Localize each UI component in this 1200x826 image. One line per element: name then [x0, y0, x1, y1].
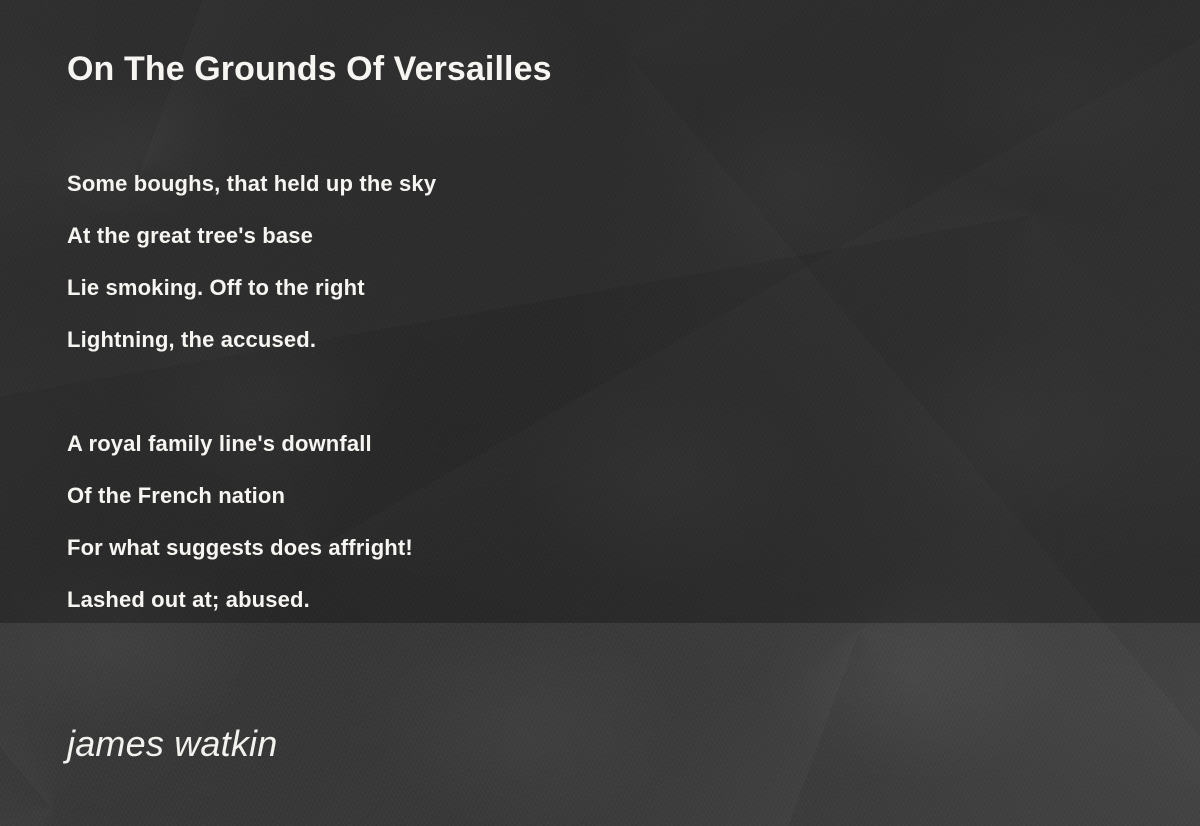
poem-author: james watkin: [67, 723, 277, 765]
poem-title: On The Grounds Of Versailles: [67, 50, 552, 89]
poem-stanza: Some boughs, that held up the sky At the…: [67, 158, 827, 366]
poem-line: Lightning, the accused.: [67, 314, 827, 366]
poem-line: At the great tree's base: [67, 210, 827, 262]
poem-line: Lashed out at; abused.: [67, 574, 827, 626]
poem-line: Lie smoking. Off to the right: [67, 262, 827, 314]
poem-card: On The Grounds Of Versailles Some boughs…: [0, 0, 1200, 826]
poem-line: For what suggests does affright!: [67, 522, 827, 574]
poem-line: Of the French nation: [67, 470, 827, 522]
poem-body: Some boughs, that held up the sky At the…: [67, 158, 827, 626]
poem-line: A royal family line's downfall: [67, 418, 827, 470]
poem-content: On The Grounds Of Versailles Some boughs…: [0, 0, 1200, 826]
poem-stanza: A royal family line's downfall Of the Fr…: [67, 418, 827, 626]
poem-line: Some boughs, that held up the sky: [67, 158, 827, 210]
